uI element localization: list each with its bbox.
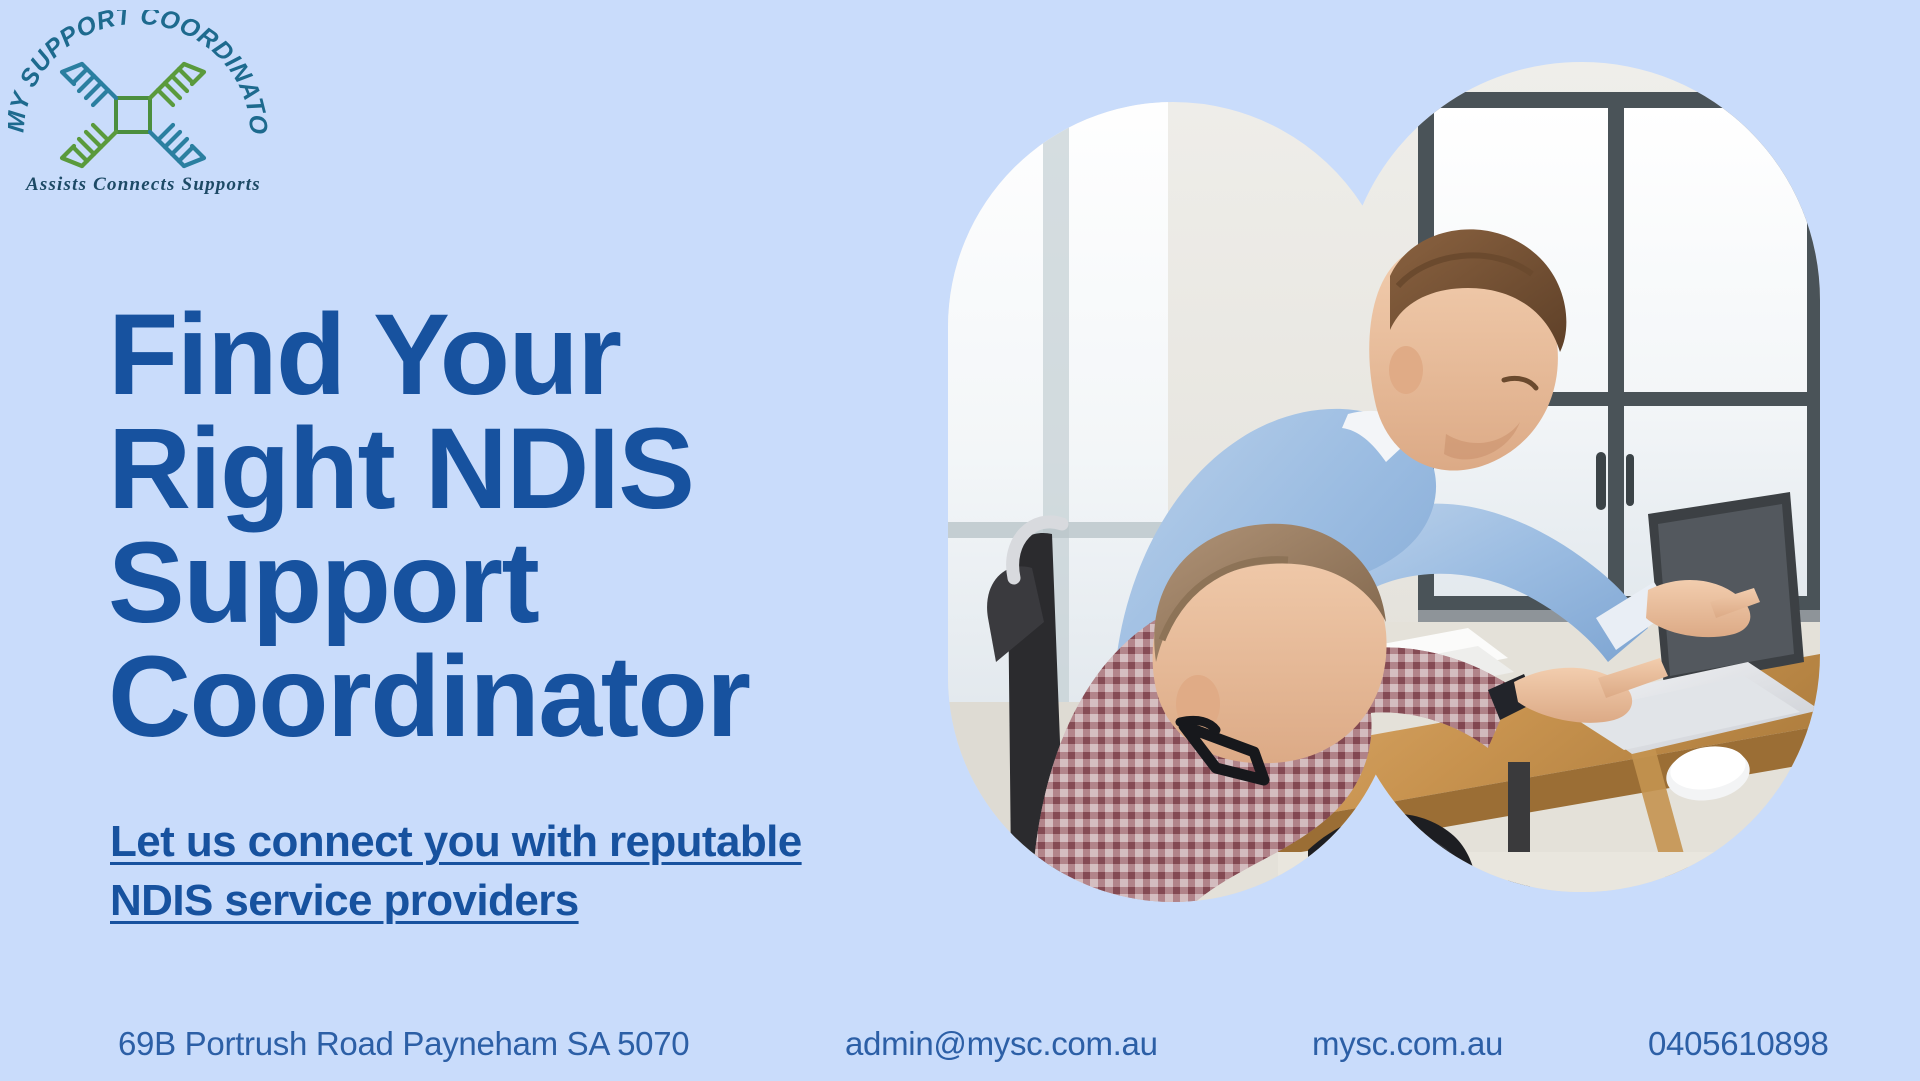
- hero-photo-svg: [948, 62, 1820, 982]
- logo-arc-text: MY SUPPORT COORDINATOR: [8, 10, 268, 136]
- page-subtitle: Let us connect you with reputable NDIS s…: [110, 812, 970, 931]
- footer-email[interactable]: admin@mysc.com.au: [845, 1025, 1158, 1063]
- footer-address: 69B Portrush Road Payneham SA 5070: [118, 1025, 689, 1063]
- company-logo[interactable]: MY SUPPORT COORDINATOR: [8, 10, 268, 200]
- headline-line-4: Coordinator: [108, 641, 968, 755]
- headline-line-3: Support: [108, 527, 968, 641]
- ndis-promo-banner: MY SUPPORT COORDINATOR: [0, 0, 1920, 1081]
- logo-svg: MY SUPPORT COORDINATOR: [8, 10, 268, 200]
- footer-website[interactable]: mysc.com.au: [1312, 1025, 1503, 1063]
- subtitle-line-2: NDIS service providers: [110, 871, 970, 930]
- logo-tagline: Assists Connects Supports: [25, 174, 261, 195]
- hero-photo: [948, 62, 1820, 982]
- contact-footer: 69B Portrush Road Payneham SA 5070 admin…: [0, 1012, 1920, 1072]
- headline-line-1: Find Your: [108, 299, 968, 413]
- subtitle-line-1: Let us connect you with reputable: [110, 812, 970, 871]
- four-hands-unity-icon: [62, 64, 204, 166]
- page-title: Find Your Right NDIS Support Coordinator: [108, 299, 968, 754]
- headline-line-2: Right NDIS: [108, 413, 968, 527]
- footer-phone[interactable]: 0405610898: [1648, 1025, 1829, 1063]
